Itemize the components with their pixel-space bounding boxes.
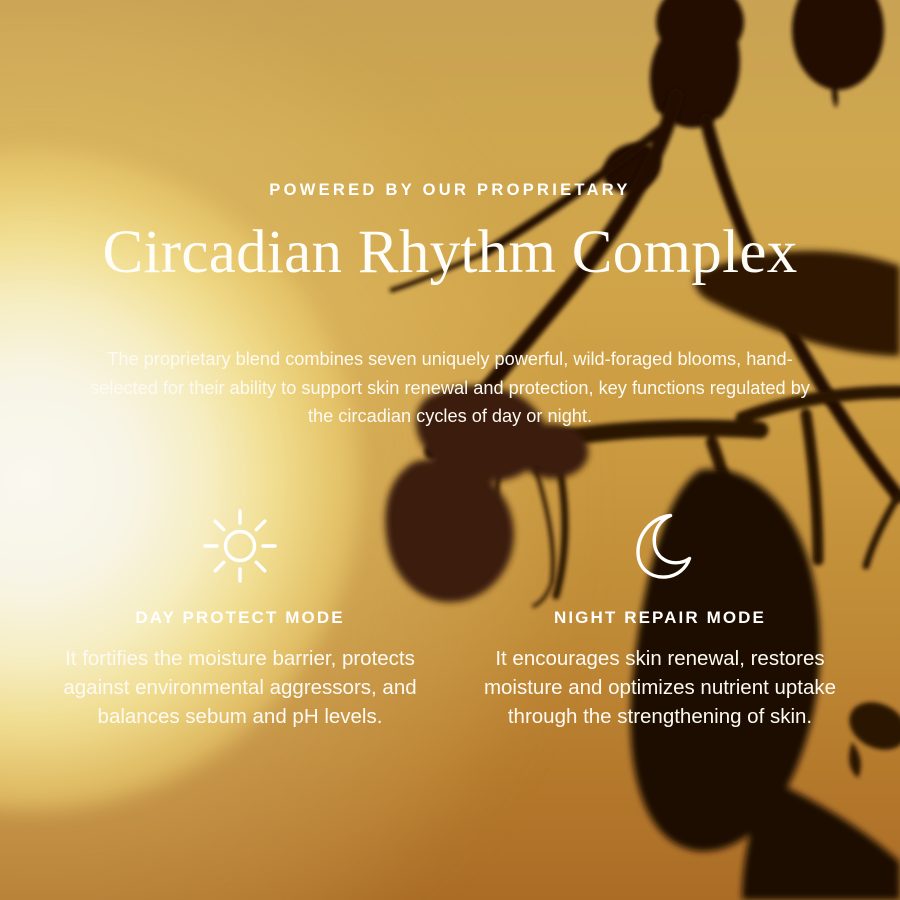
modes-row: DAY PROTECT MODE It fortifies the moistu… — [0, 507, 900, 752]
hero-banner: POWERED BY OUR PROPRIETARY Circadian Rhy… — [0, 0, 900, 900]
mode-card-night: NIGHT REPAIR MODE It encourages skin ren… — [450, 507, 870, 752]
sun-icon — [201, 507, 279, 585]
mode-body-day: It fortifies the moisture barrier, prote… — [55, 644, 425, 731]
mode-title-night: NIGHT REPAIR MODE — [554, 609, 766, 626]
mode-title-day: DAY PROTECT MODE — [135, 609, 344, 626]
mode-body-night: It encourages skin renewal, restores moi… — [475, 644, 845, 731]
mode-card-day: DAY PROTECT MODE It fortifies the moistu… — [30, 507, 450, 752]
eyebrow-label: POWERED BY OUR PROPRIETARY — [269, 182, 630, 199]
hero-content: POWERED BY OUR PROPRIETARY Circadian Rhy… — [0, 0, 900, 900]
page-title: Circadian Rhythm Complex — [102, 221, 797, 284]
moon-icon — [621, 507, 699, 585]
intro-paragraph: The proprietary blend combines seven uni… — [85, 345, 815, 431]
